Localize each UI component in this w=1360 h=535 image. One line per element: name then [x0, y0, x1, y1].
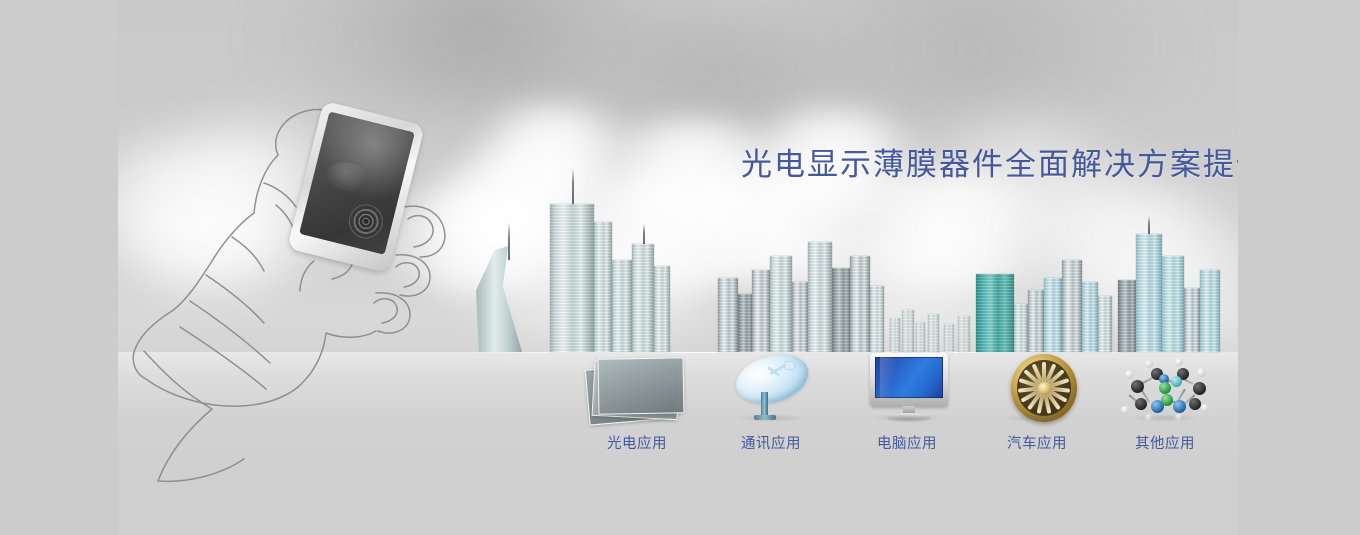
- atom-hydrogen: [1175, 358, 1183, 366]
- skyscraper: [612, 260, 632, 352]
- distant-building: [902, 310, 914, 352]
- dish-assembly: [735, 354, 811, 422]
- icon-shadow: [1002, 414, 1072, 422]
- application-item-other[interactable]: 其他应用: [1101, 352, 1229, 462]
- distant-building: [916, 322, 925, 352]
- monitor-bezel: [870, 353, 948, 407]
- film-sheet: [598, 357, 685, 414]
- tower-spire: [643, 224, 645, 244]
- satellite-dish-icon: [707, 352, 835, 424]
- skyscraper: [1014, 304, 1028, 352]
- tower-spire: [1148, 216, 1150, 234]
- tower-spire: [572, 168, 574, 204]
- atom-carbon: [1193, 382, 1206, 395]
- skyscraper: [870, 286, 884, 352]
- sheet-stack: [587, 356, 687, 422]
- screen-glint: [880, 357, 898, 398]
- icon-shadow: [872, 414, 942, 422]
- skyscraper: [594, 222, 612, 352]
- hand-outline-icon: [128, 95, 488, 495]
- atom-hydrogen: [1121, 406, 1129, 414]
- skyscraper: [850, 256, 870, 352]
- application-list: 光电应用 通讯应用: [573, 352, 1213, 462]
- atom-hydrogen: [1197, 368, 1206, 377]
- application-label: 电脑应用: [843, 432, 971, 453]
- atom-metal-center: [1161, 394, 1173, 406]
- skyscraper: [718, 278, 738, 352]
- skyscraper: [808, 242, 832, 352]
- icon-shadow: [602, 414, 672, 422]
- skyscraper: [1082, 282, 1098, 352]
- skyscraper: [1098, 296, 1112, 352]
- dish-lnb: [785, 362, 794, 369]
- skyscraper: [1062, 260, 1082, 352]
- skyscraper: [752, 270, 770, 352]
- skyscraper: [738, 294, 752, 352]
- atom-carbon: [1189, 398, 1201, 410]
- application-item-automotive[interactable]: 汽车应用: [973, 352, 1101, 462]
- skyscraper: [550, 204, 594, 352]
- promo-banner: 光电显示薄膜器件全面解决方案提供商 光电应用: [0, 0, 1360, 535]
- skyscraper: [770, 256, 792, 352]
- dish-reflector: [730, 347, 814, 412]
- distant-building: [944, 324, 954, 352]
- atom-hydrogen: [1145, 360, 1153, 368]
- application-label: 其他应用: [1101, 432, 1229, 453]
- screen-ripple: [346, 201, 387, 242]
- skyscraper: [832, 268, 850, 352]
- atom-nitrogen: [1173, 400, 1186, 413]
- skyscraper: [1184, 288, 1200, 352]
- distant-building: [928, 314, 939, 352]
- skyscraper: [1136, 234, 1162, 352]
- wheel-rim: [1011, 354, 1077, 422]
- skyscraper: [976, 274, 1014, 352]
- banner-artwork: 光电显示薄膜器件全面解决方案提供商 光电应用: [118, 0, 1238, 535]
- application-item-optoelectronic[interactable]: 光电应用: [573, 352, 701, 462]
- distant-building: [958, 316, 970, 352]
- molecule-icon: [1101, 352, 1229, 424]
- monitor-icon: [843, 352, 971, 424]
- skyscraper: [654, 266, 670, 352]
- skyscraper: [632, 244, 654, 352]
- application-item-communication[interactable]: 通讯应用: [707, 352, 835, 462]
- hand-holding-phone-sketch: [128, 95, 488, 495]
- film-sheets-icon: [573, 352, 701, 424]
- monitor-assembly: [870, 353, 948, 423]
- monitor-screen: [875, 357, 943, 398]
- icon-shadow: [736, 414, 806, 422]
- skyscraper: [1028, 290, 1044, 352]
- skyscraper: [1200, 270, 1220, 352]
- skyscraper: [1044, 278, 1062, 352]
- application-item-computer[interactable]: 电脑应用: [843, 352, 971, 462]
- screen-swirl: [324, 158, 373, 196]
- icon-shadow: [1130, 414, 1200, 422]
- car-wheel-icon: [973, 352, 1101, 424]
- application-label: 光电应用: [573, 432, 701, 453]
- application-label: 通讯应用: [707, 432, 835, 453]
- distant-building: [890, 318, 900, 352]
- skyscraper: [792, 282, 808, 352]
- skyscraper: [1162, 256, 1184, 352]
- wheel-hub: [1038, 382, 1051, 395]
- application-label: 汽车应用: [973, 432, 1101, 453]
- skyscraper: [1118, 280, 1136, 352]
- atom-hydrogen: [1201, 404, 1209, 412]
- atom-carbon: [1135, 398, 1147, 410]
- atom-metal-center: [1159, 382, 1171, 394]
- tower-spire: [508, 222, 510, 260]
- atom-other: [1171, 376, 1182, 387]
- wheel-assembly: [1011, 354, 1077, 422]
- atom-hydrogen: [1125, 370, 1134, 379]
- atom-carbon: [1131, 380, 1144, 393]
- page-title: 光电显示薄膜器件全面解决方案提供商: [741, 139, 1238, 184]
